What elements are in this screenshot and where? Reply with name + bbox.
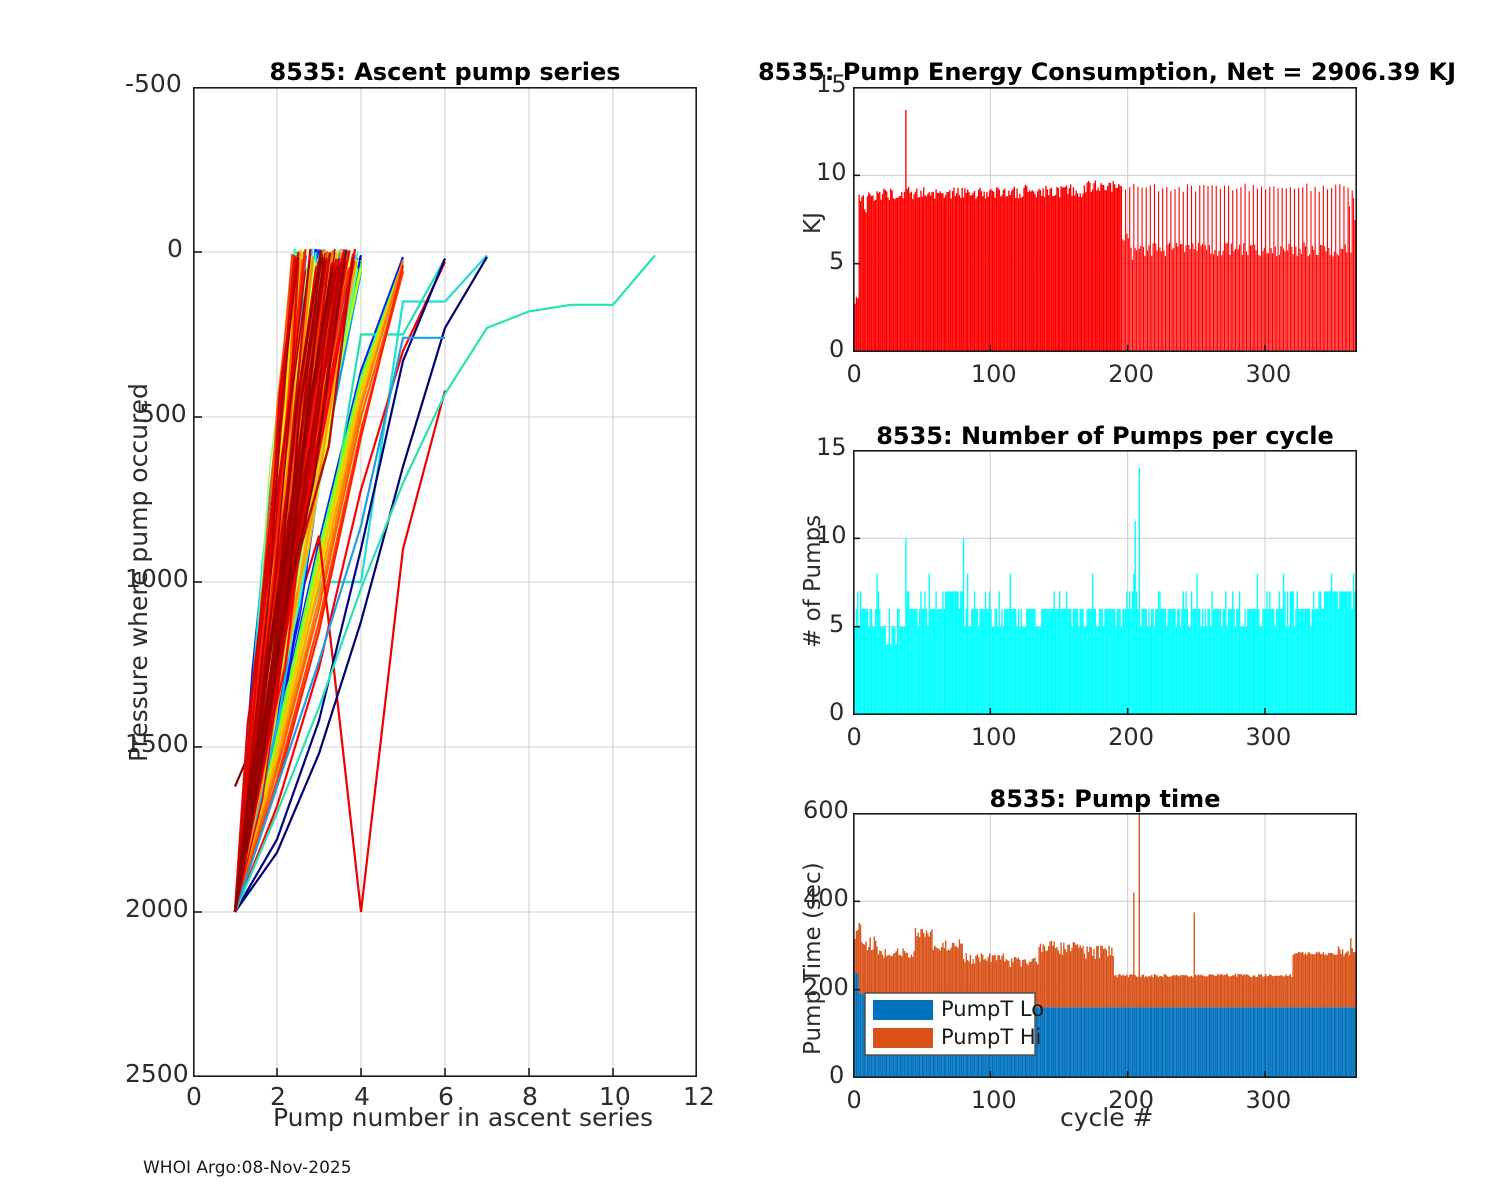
bar-group <box>854 110 1357 352</box>
axis-tick-label: 600 <box>803 796 849 824</box>
axis-tick-label: 10 <box>816 521 847 549</box>
axis-tick-label: 10 <box>599 1082 631 1111</box>
legend-swatch <box>873 1028 933 1048</box>
axis-tick-label: 300 <box>1245 1086 1291 1114</box>
axis-tick-label: 100 <box>971 723 1017 751</box>
pump-time-legend[interactable]: PumpT LoPumpT Hi <box>865 993 1044 1055</box>
axis-tick-label: 2500 <box>125 1059 189 1088</box>
pumps-per-cycle-title: 8535: Number of Pumps per cycle <box>853 422 1357 450</box>
axis-tick-label: 5 <box>829 610 844 638</box>
pump-energy-plot[interactable] <box>853 87 1357 352</box>
axis-tick-label: 2000 <box>125 894 189 923</box>
axis-tick-label: 0 <box>829 698 844 726</box>
axis-tick-label: 1500 <box>125 729 189 758</box>
axis-tick-label: 0 <box>847 1086 862 1114</box>
axis-tick-label: 4 <box>354 1082 370 1111</box>
axis-tick-label: 200 <box>1108 360 1154 388</box>
axis-tick-label: 200 <box>1108 1086 1154 1114</box>
axis-tick-label: 0 <box>829 1061 844 1089</box>
legend-swatch <box>873 1000 933 1020</box>
axis-tick-label: 12 <box>683 1082 715 1111</box>
axis-tick-label: 0 <box>829 335 844 363</box>
ascent-pump-series-plot[interactable] <box>193 87 697 1077</box>
axis-tick-label: 200 <box>1108 723 1154 751</box>
pump-time-plot[interactable]: PumpT LoPumpT Hi <box>853 813 1357 1078</box>
axis-tick-label: 6 <box>438 1082 454 1111</box>
bar-group <box>854 468 1357 715</box>
axis-tick-label: 0 <box>847 360 862 388</box>
legend-label: PumpT Lo <box>941 997 1044 1021</box>
pump-energy-title: 8535: Pump Energy Consumption, Net = 290… <box>747 58 1467 86</box>
axis-tick-label: -500 <box>125 69 182 98</box>
axis-tick-label: 5 <box>829 247 844 275</box>
axis-tick-label: 15 <box>816 70 847 98</box>
axis-tick-label: 500 <box>139 399 187 428</box>
axis-tick-label: 8 <box>522 1082 538 1111</box>
pump-time-title: 8535: Pump time <box>853 785 1357 813</box>
axis-tick-label: 300 <box>1245 723 1291 751</box>
axis-tick-label: 200 <box>803 973 849 1001</box>
axis-tick-label: 15 <box>816 433 847 461</box>
ascent-x-axis-label: Pump number in ascent series <box>273 1103 653 1132</box>
axis-tick-label: 0 <box>847 723 862 751</box>
pumps-per-cycle-plot[interactable] <box>853 450 1357 715</box>
figure-footer: WHOI Argo:08-Nov-2025 <box>143 1158 352 1178</box>
axis-tick-label: 100 <box>971 1086 1017 1114</box>
axis-tick-label: 400 <box>803 884 849 912</box>
axis-tick-label: 2 <box>270 1082 286 1111</box>
ascent-pump-series-title: 8535: Ascent pump series <box>193 58 697 86</box>
axis-tick-label: 100 <box>971 360 1017 388</box>
energy-y-axis-label: KJ <box>800 212 826 234</box>
axis-tick-label: 0 <box>167 234 183 263</box>
legend-label: PumpT Hi <box>941 1025 1042 1049</box>
axis-tick-label: 1000 <box>125 564 189 593</box>
axis-tick-label: 300 <box>1245 360 1291 388</box>
axis-tick-label: 10 <box>816 158 847 186</box>
